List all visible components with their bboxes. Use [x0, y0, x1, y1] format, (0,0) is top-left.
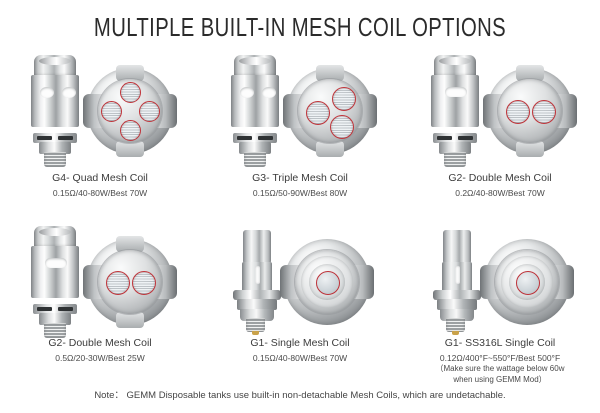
mesh-port — [120, 120, 141, 141]
coil-image-g4-quad — [7, 50, 193, 172]
coil-center-pin — [252, 331, 259, 335]
product-spec: 0.5Ω/20-30W/Best 25W — [0, 353, 200, 364]
product-spec: 0.15Ω/40-80W/Best 70W — [200, 353, 400, 364]
mesh-port — [120, 82, 141, 103]
product-spec: 0.2Ω/40-80W/Best 70W — [400, 188, 600, 199]
coil-image-g1-single — [207, 227, 393, 337]
coil-airhole — [262, 87, 276, 98]
coil-top-view — [484, 239, 570, 325]
mesh-cluster-double — [498, 79, 562, 143]
coil-wick-slot — [255, 266, 260, 284]
coil-top-cap — [34, 226, 76, 248]
mesh-cluster-quad — [98, 79, 162, 143]
coil-side-view — [27, 55, 83, 167]
mesh-cluster-double — [98, 250, 162, 314]
coil-side-view — [427, 55, 483, 167]
coil-threaded-base — [44, 323, 66, 338]
product-note-line1: （Make sure the wattage below 60w — [400, 364, 600, 375]
coil-airhole — [240, 87, 254, 98]
coil-band — [430, 125, 480, 132]
product-spec: 0.15Ω/40-80W/Best 70W — [0, 188, 200, 199]
product-caption: G4- Quad Mesh Coil 0.15Ω/40-80W/Best 70W — [0, 172, 200, 199]
product-card-g1-single-mesh: G1- Single Mesh Coil 0.15Ω/40-80W/Best 7… — [200, 227, 400, 385]
product-name: G3- Triple Mesh Coil — [200, 172, 400, 185]
coil-row-bottom: G2- Double Mesh Coil 0.5Ω/20-30W/Best 25… — [0, 227, 600, 385]
mesh-port — [139, 101, 160, 122]
product-caption: G3- Triple Mesh Coil 0.15Ω/50-90W/Best 8… — [200, 172, 400, 199]
coil-band — [230, 125, 280, 132]
coil-chimney — [243, 230, 271, 264]
coil-image-g2-double-low — [7, 227, 193, 337]
product-card-g3-triple: G3- Triple Mesh Coil 0.15Ω/50-90W/Best 8… — [200, 50, 400, 199]
coil-threaded-base — [244, 152, 266, 167]
coil-threaded-base — [446, 318, 465, 332]
single-mesh-port — [295, 250, 359, 314]
coil-top-view — [284, 239, 370, 325]
product-card-g4-quad: G4- Quad Mesh Coil 0.15Ω/40-80W/Best 70W — [0, 50, 200, 199]
product-caption: G2- Double Mesh Coil 0.2Ω/40-80W/Best 70… — [400, 172, 600, 199]
coil-airhole — [62, 87, 76, 98]
mesh-port — [330, 115, 354, 139]
footer-note: Note： GEMM Disposable tanks use built-in… — [0, 387, 600, 401]
coil-chimney — [443, 230, 471, 264]
coil-top-view — [87, 68, 173, 154]
coil-threaded-base — [44, 152, 66, 167]
page-title: MULTIPLE BUILT-IN MESH COIL OPTIONS — [66, 12, 534, 42]
product-card-g1-ss316l: G1- SS316L Single Coil 0.12Ω/400°F~550°F… — [400, 227, 600, 385]
product-name: G1- Single Mesh Coil — [200, 337, 400, 350]
coil-body — [231, 75, 279, 127]
coil-top-cap — [234, 55, 276, 77]
mesh-port — [506, 100, 530, 124]
coil-image-g1-ss316l — [407, 227, 593, 337]
mesh-port — [532, 100, 556, 124]
product-name: G2- Double Mesh Coil — [0, 337, 200, 350]
coil-row-top: G4- Quad Mesh Coil 0.15Ω/40-80W/Best 70W — [0, 50, 600, 199]
coil-airhole — [45, 258, 67, 268]
coil-airhole — [445, 87, 467, 97]
product-card-g2-double-80w: G2- Double Mesh Coil 0.2Ω/40-80W/Best 70… — [400, 50, 600, 199]
coil-image-g3-triple — [207, 50, 393, 172]
coil-top-view — [287, 68, 373, 154]
coil-band — [30, 125, 80, 132]
product-name: G4- Quad Mesh Coil — [0, 172, 200, 185]
coil-threaded-base — [444, 152, 466, 167]
coil-side-view — [27, 226, 83, 338]
coil-body — [31, 75, 79, 127]
coil-band — [30, 296, 80, 303]
coil-threaded-base — [246, 318, 265, 332]
coil-body — [431, 75, 479, 127]
mesh-port — [332, 87, 356, 111]
coil-center-pin — [452, 331, 459, 335]
coil-side-view — [430, 230, 480, 334]
coil-side-view — [230, 230, 280, 334]
product-spec: 0.15Ω/50-90W/Best 80W — [200, 188, 400, 199]
coil-body — [31, 246, 79, 298]
mesh-port — [132, 271, 156, 295]
coil-top-cap — [434, 55, 476, 77]
mesh-port — [516, 271, 540, 295]
product-note-line2: when using GEMM Mod） — [400, 375, 600, 386]
coil-top-cap — [34, 55, 76, 77]
single-mesh-port — [495, 250, 559, 314]
product-caption: G1- SS316L Single Coil 0.12Ω/400°F~550°F… — [400, 337, 600, 385]
product-spec: 0.12Ω/400°F~550°F/Best 500°F — [400, 353, 600, 364]
coil-top-view — [487, 68, 573, 154]
product-name: G1- SS316L Single Coil — [400, 337, 600, 350]
product-name: G2- Double Mesh Coil — [400, 172, 600, 185]
mesh-port — [101, 101, 122, 122]
coil-top-view — [87, 239, 173, 325]
mesh-port — [316, 271, 340, 295]
coil-image-g2-double — [407, 50, 593, 172]
product-card-g2-double-25w: G2- Double Mesh Coil 0.5Ω/20-30W/Best 25… — [0, 227, 200, 385]
mesh-port — [306, 101, 330, 125]
mesh-port — [106, 271, 130, 295]
coil-side-view — [227, 55, 283, 167]
coil-wick-slot — [455, 266, 460, 284]
mesh-cluster-triple — [298, 79, 362, 143]
coil-options-grid: G4- Quad Mesh Coil 0.15Ω/40-80W/Best 70W — [0, 50, 600, 385]
coil-airhole — [40, 87, 54, 98]
product-caption: G1- Single Mesh Coil 0.15Ω/40-80W/Best 7… — [200, 337, 400, 364]
product-caption: G2- Double Mesh Coil 0.5Ω/20-30W/Best 25… — [0, 337, 200, 364]
